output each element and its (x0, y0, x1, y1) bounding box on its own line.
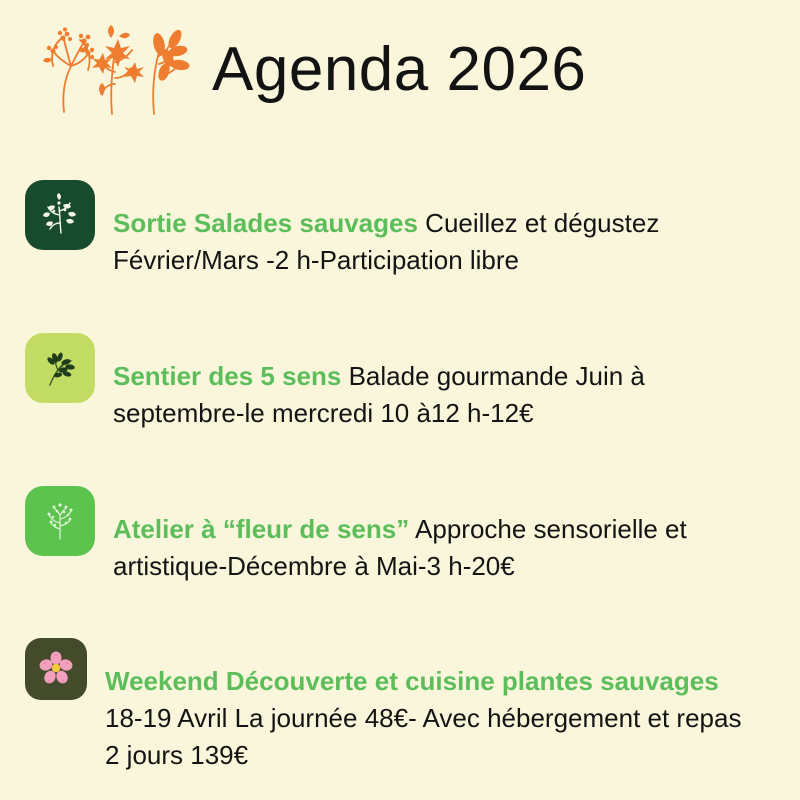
fern-sprig-icon (25, 486, 95, 556)
list-item[interactable]: Sentier des 5 sens Balade gourmande Juin… (0, 331, 800, 458)
list-item[interactable]: Atelier à “fleur de sens” Approche senso… (0, 484, 800, 611)
page-title: Agenda 2026 (212, 39, 586, 101)
branch-leaves-icon (25, 333, 95, 403)
list-item[interactable]: Sortie Salades sauvages Cueillez et dégu… (0, 178, 800, 305)
event-title: Weekend Découverte et cuisine plantes sa… (105, 666, 719, 696)
event-text: Weekend Découverte et cuisine plantes sa… (105, 662, 753, 774)
cherry-blossom-icon (25, 638, 87, 700)
botanical-sprigs-illustration (18, 20, 198, 120)
list-item[interactable]: Weekend Découverte et cuisine plantes sa… (0, 636, 800, 800)
event-text: Atelier à “fleur de sens” Approche senso… (113, 510, 761, 585)
leaf-sprig-icon (25, 180, 95, 250)
agenda-event-list: Sortie Salades sauvages Cueillez et dégu… (0, 140, 800, 800)
event-title: Sentier des 5 sens (113, 361, 341, 391)
event-title: Atelier à “fleur de sens” (113, 514, 409, 544)
event-description: 18-19 Avril La journée 48€- Avec héberge… (105, 703, 741, 770)
event-text: Sortie Salades sauvages Cueillez et dégu… (113, 204, 761, 279)
event-text: Sentier des 5 sens Balade gourmande Juin… (113, 357, 761, 432)
event-title: Sortie Salades sauvages (113, 208, 418, 238)
page-header: Agenda 2026 (0, 0, 800, 140)
